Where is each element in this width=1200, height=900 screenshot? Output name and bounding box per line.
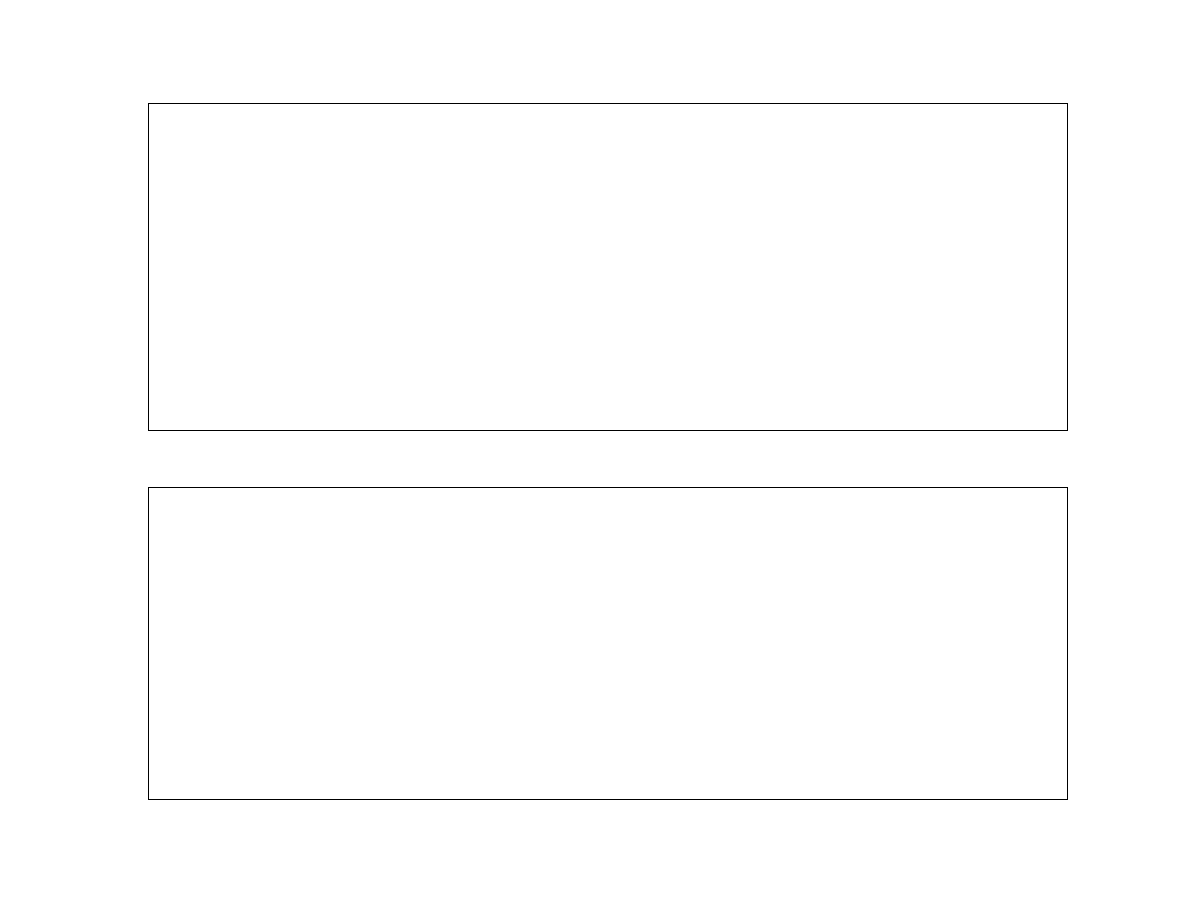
temperature-plot-area (149, 104, 1067, 430)
current-plot-area (149, 488, 1067, 799)
current-axes (148, 487, 1068, 800)
figure-canvas (0, 0, 1200, 900)
current-series-svg (149, 488, 1067, 799)
temperature-axes (148, 103, 1068, 431)
temperature-series-svg (149, 104, 1067, 430)
